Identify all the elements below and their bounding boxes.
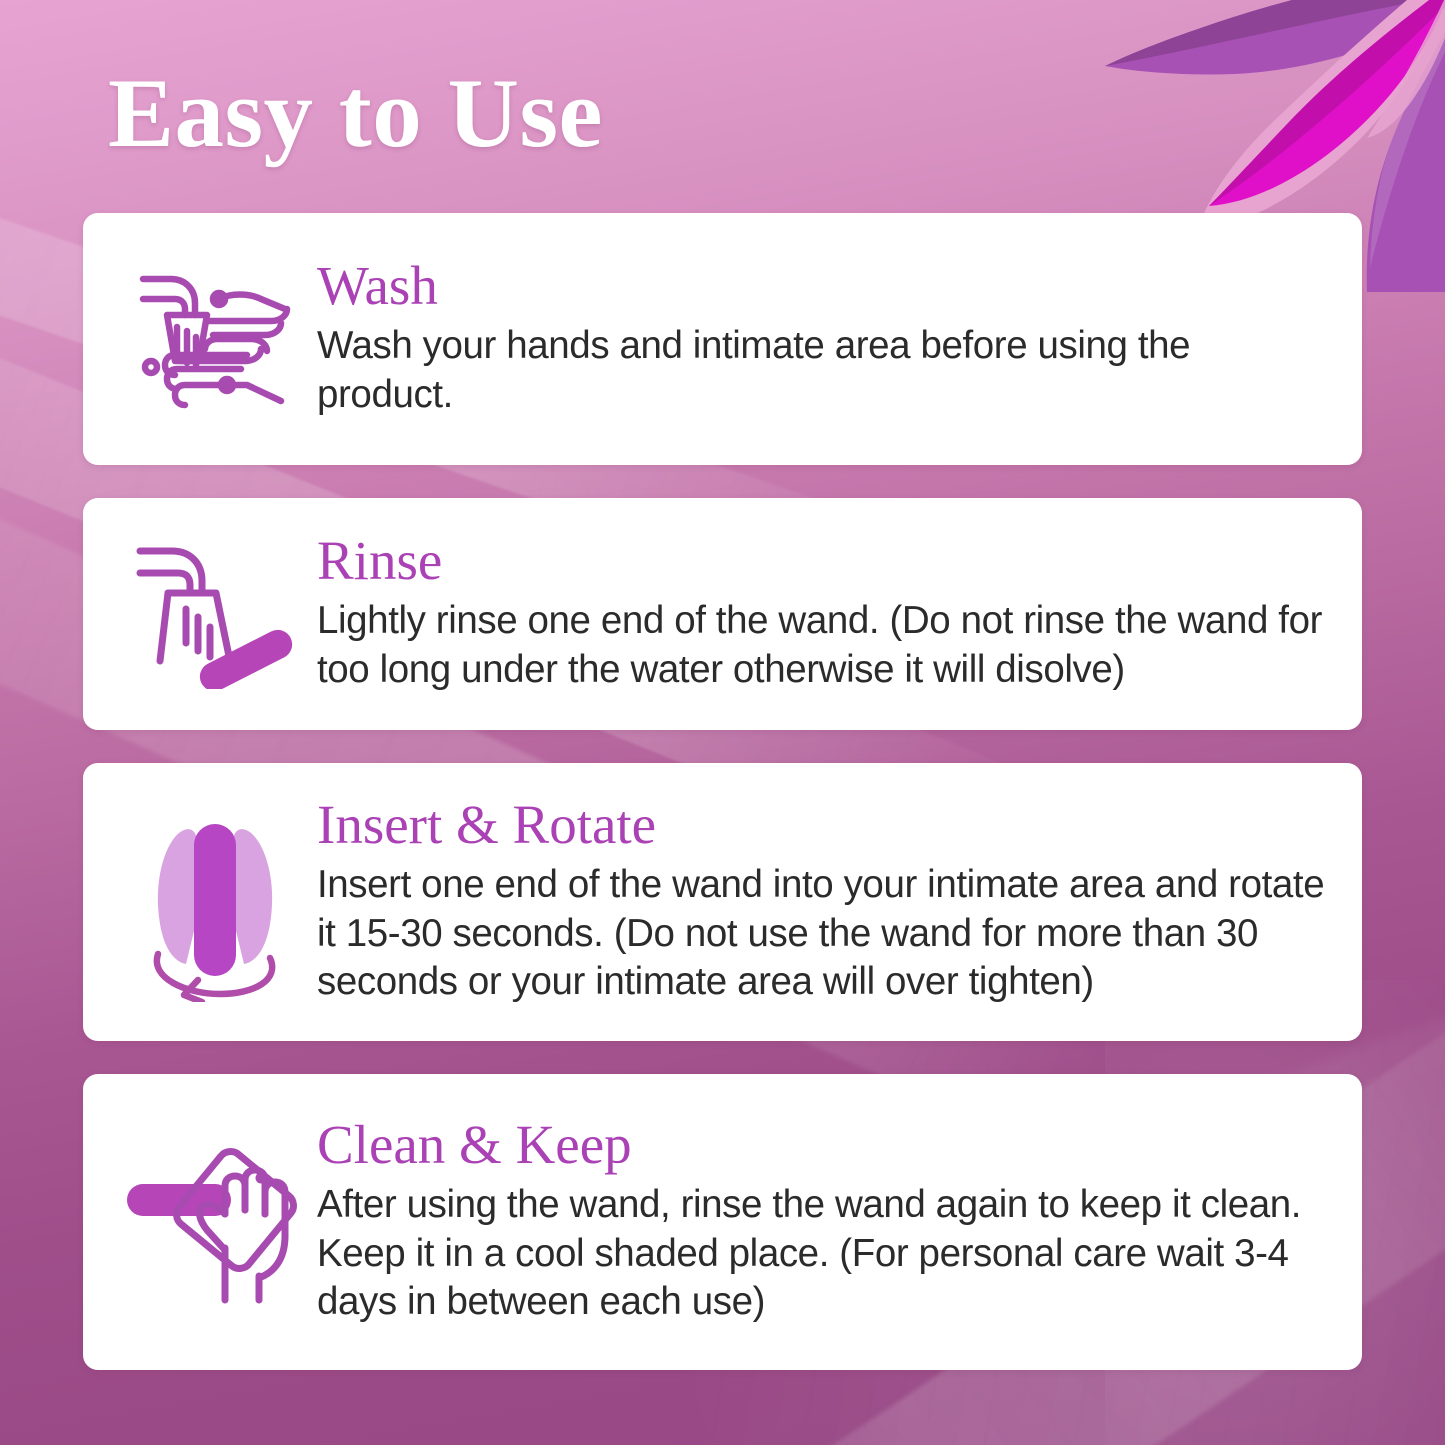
page-title: Easy to Use (108, 62, 603, 166)
step-card-insert-rotate[interactable]: Insert & Rotate Insert one end of the wa… (83, 763, 1362, 1041)
step-description: Insert one end of the wand into your int… (317, 861, 1336, 1007)
step-title: Wash (317, 258, 1336, 313)
step-body-rinse: Rinse Lightly rinse one end of the wand.… (313, 533, 1336, 694)
step-description: Wash your hands and intimate area before… (317, 322, 1336, 419)
step-body-clean-keep: Clean & Keep After using the wand, rinse… (313, 1117, 1336, 1327)
wand-shape (194, 824, 236, 976)
step-body-wash: Wash Wash your hands and intimate area b… (313, 258, 1336, 419)
step-description: After using the wand, rinse the wand aga… (317, 1181, 1336, 1327)
faucet-rinse-wand-icon (117, 498, 313, 730)
step-title: Clean & Keep (317, 1117, 1336, 1172)
hand-wiping-cloth-icon (117, 1074, 313, 1370)
wash-hands-icon (117, 213, 313, 465)
step-card-rinse[interactable]: Rinse Lightly rinse one end of the wand.… (83, 498, 1362, 730)
insert-rotate-wand-icon (117, 763, 313, 1041)
step-body-insert-rotate: Insert & Rotate Insert one end of the wa… (313, 797, 1336, 1007)
infographic-canvas: Easy to Use (0, 0, 1445, 1445)
step-card-wash[interactable]: Wash Wash your hands and intimate area b… (83, 213, 1362, 465)
step-title: Insert & Rotate (317, 797, 1336, 852)
step-title: Rinse (317, 533, 1336, 588)
steps-list: Wash Wash your hands and intimate area b… (83, 213, 1362, 1403)
step-card-clean-keep[interactable]: Clean & Keep After using the wand, rinse… (83, 1074, 1362, 1370)
step-description: Lightly rinse one end of the wand. (Do n… (317, 597, 1336, 694)
